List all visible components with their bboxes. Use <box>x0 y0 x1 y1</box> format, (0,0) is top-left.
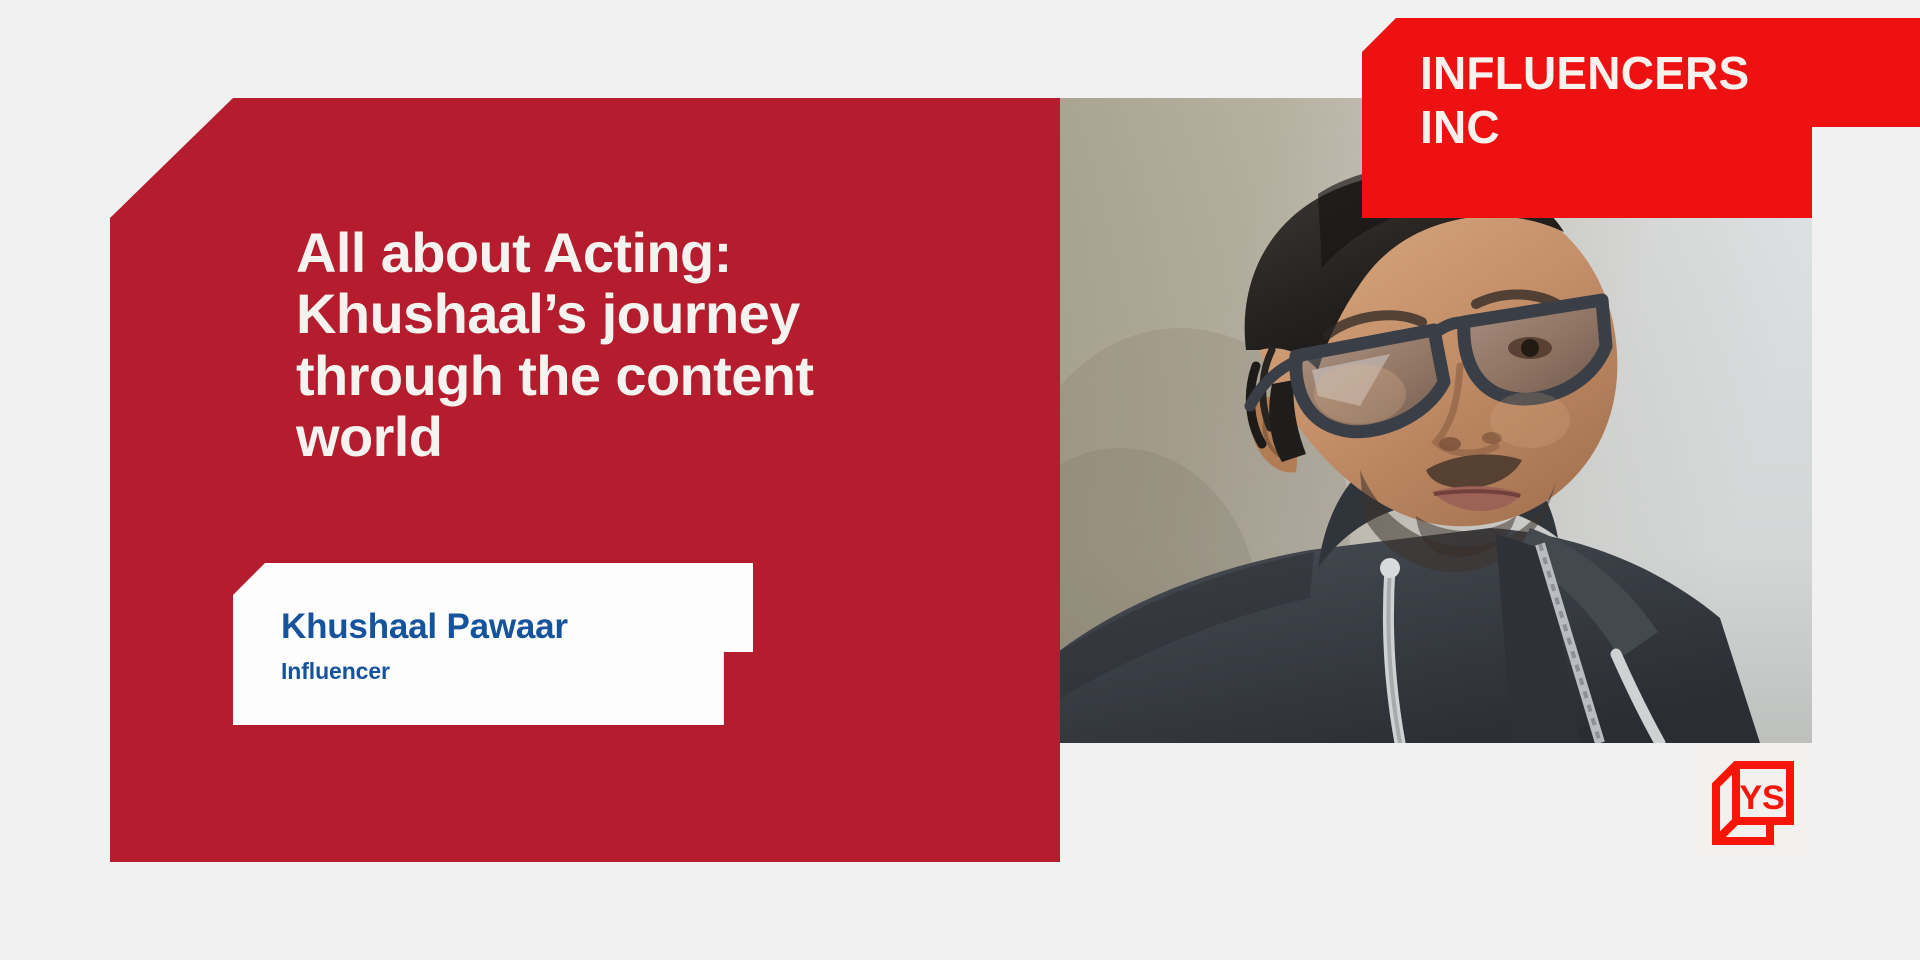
badge-line-2: INC <box>1420 104 1500 150</box>
poster-canvas: All about Acting: Khushaal’s journey thr… <box>0 0 1920 960</box>
page-title: All about Acting: Khushaal’s journey thr… <box>296 222 986 467</box>
person-role: Influencer <box>281 658 390 685</box>
ys-logo-text: YS <box>1739 779 1784 817</box>
influencers-inc-badge: INFLUENCERS INC <box>1362 18 1920 218</box>
person-name: Khushaal Pawaar <box>281 607 568 647</box>
red-content-panel <box>110 98 1060 862</box>
person-name-card: Khushaal Pawaar Influencer <box>233 563 753 725</box>
yourstory-logo: YS <box>1694 743 1814 862</box>
badge-line-1: INFLUENCERS <box>1420 50 1749 96</box>
